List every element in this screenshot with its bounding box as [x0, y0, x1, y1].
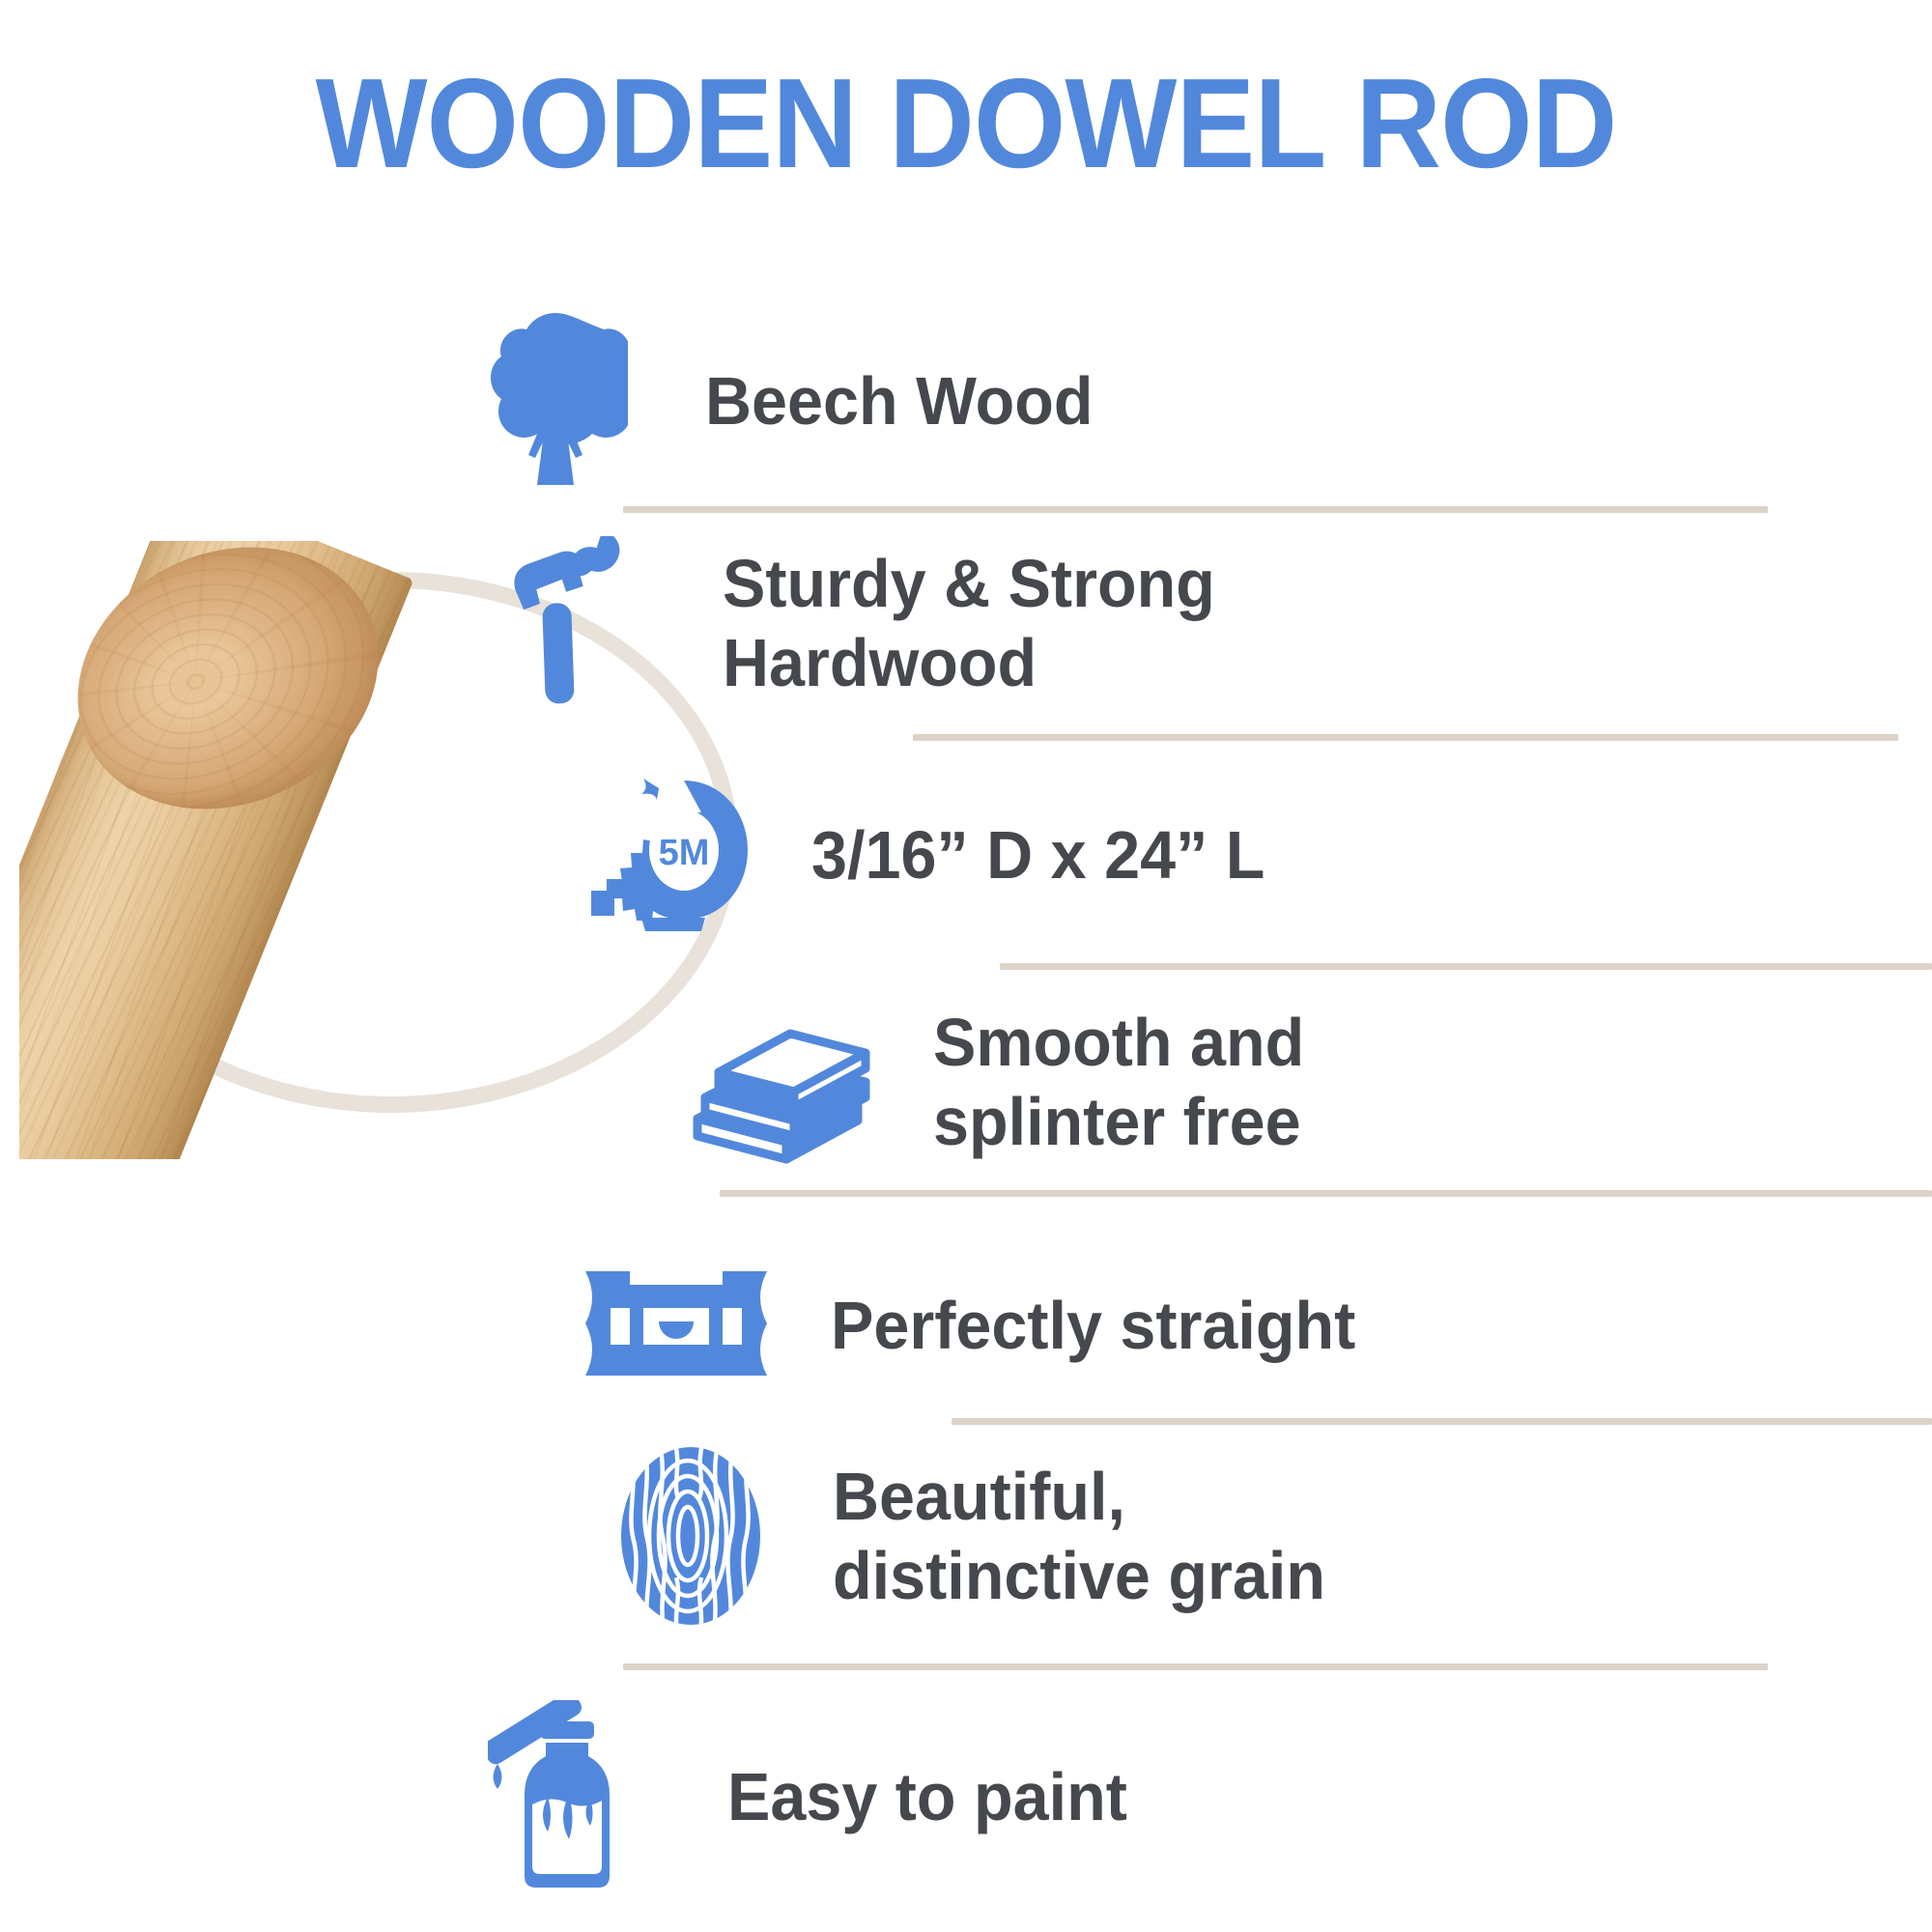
spirit-level-icon: [580, 1267, 773, 1383]
hammer-icon: [483, 536, 647, 710]
feature-row-dimensions: 5M 3/16” D x 24” L: [580, 773, 1289, 937]
divider: [720, 1190, 1932, 1197]
tree-icon: [483, 309, 628, 493]
feature-label: Perfectly straight: [831, 1286, 1355, 1365]
feature-list: Beech Wood Sturdy & Strong Hardwood: [0, 0, 1932, 1932]
divider: [913, 734, 1898, 741]
wood-grain-icon: [618, 1444, 763, 1628]
divider: [623, 1663, 1768, 1670]
feature-row-distinctive-grain: Beautiful, distinctive grain: [618, 1444, 1351, 1628]
wood-planks-icon: [676, 995, 879, 1169]
divider: [952, 1418, 1932, 1425]
tape-measure-icon: 5M: [580, 773, 753, 937]
feature-row-sturdy-strong: Sturdy & Strong Hardwood: [483, 536, 1241, 710]
paint-bottle-icon: [488, 1700, 642, 1893]
feature-row-beech-wood: Beech Wood: [483, 309, 1114, 493]
feature-row-perfectly-straight: Perfectly straight: [580, 1267, 1383, 1383]
divider: [1000, 963, 1932, 970]
feature-label: Sturdy & Strong Hardwood: [723, 544, 1215, 702]
feature-row-smooth-splinter-free: Smooth and splinter free: [676, 995, 1323, 1169]
feature-label: Smooth and splinter free: [933, 1003, 1304, 1161]
feature-label: 3/16” D x 24” L: [811, 815, 1264, 895]
tape-measure-label: 5M: [659, 833, 710, 873]
infographic-page: WOODEN DOWEL ROD: [0, 0, 1932, 1932]
feature-label: Beautiful, distinctive grain: [833, 1457, 1325, 1615]
feature-label: Beech Wood: [705, 361, 1094, 440]
divider: [623, 506, 1768, 513]
feature-row-easy-to-paint: Easy to paint: [488, 1700, 1149, 1893]
feature-label: Easy to paint: [727, 1757, 1127, 1836]
